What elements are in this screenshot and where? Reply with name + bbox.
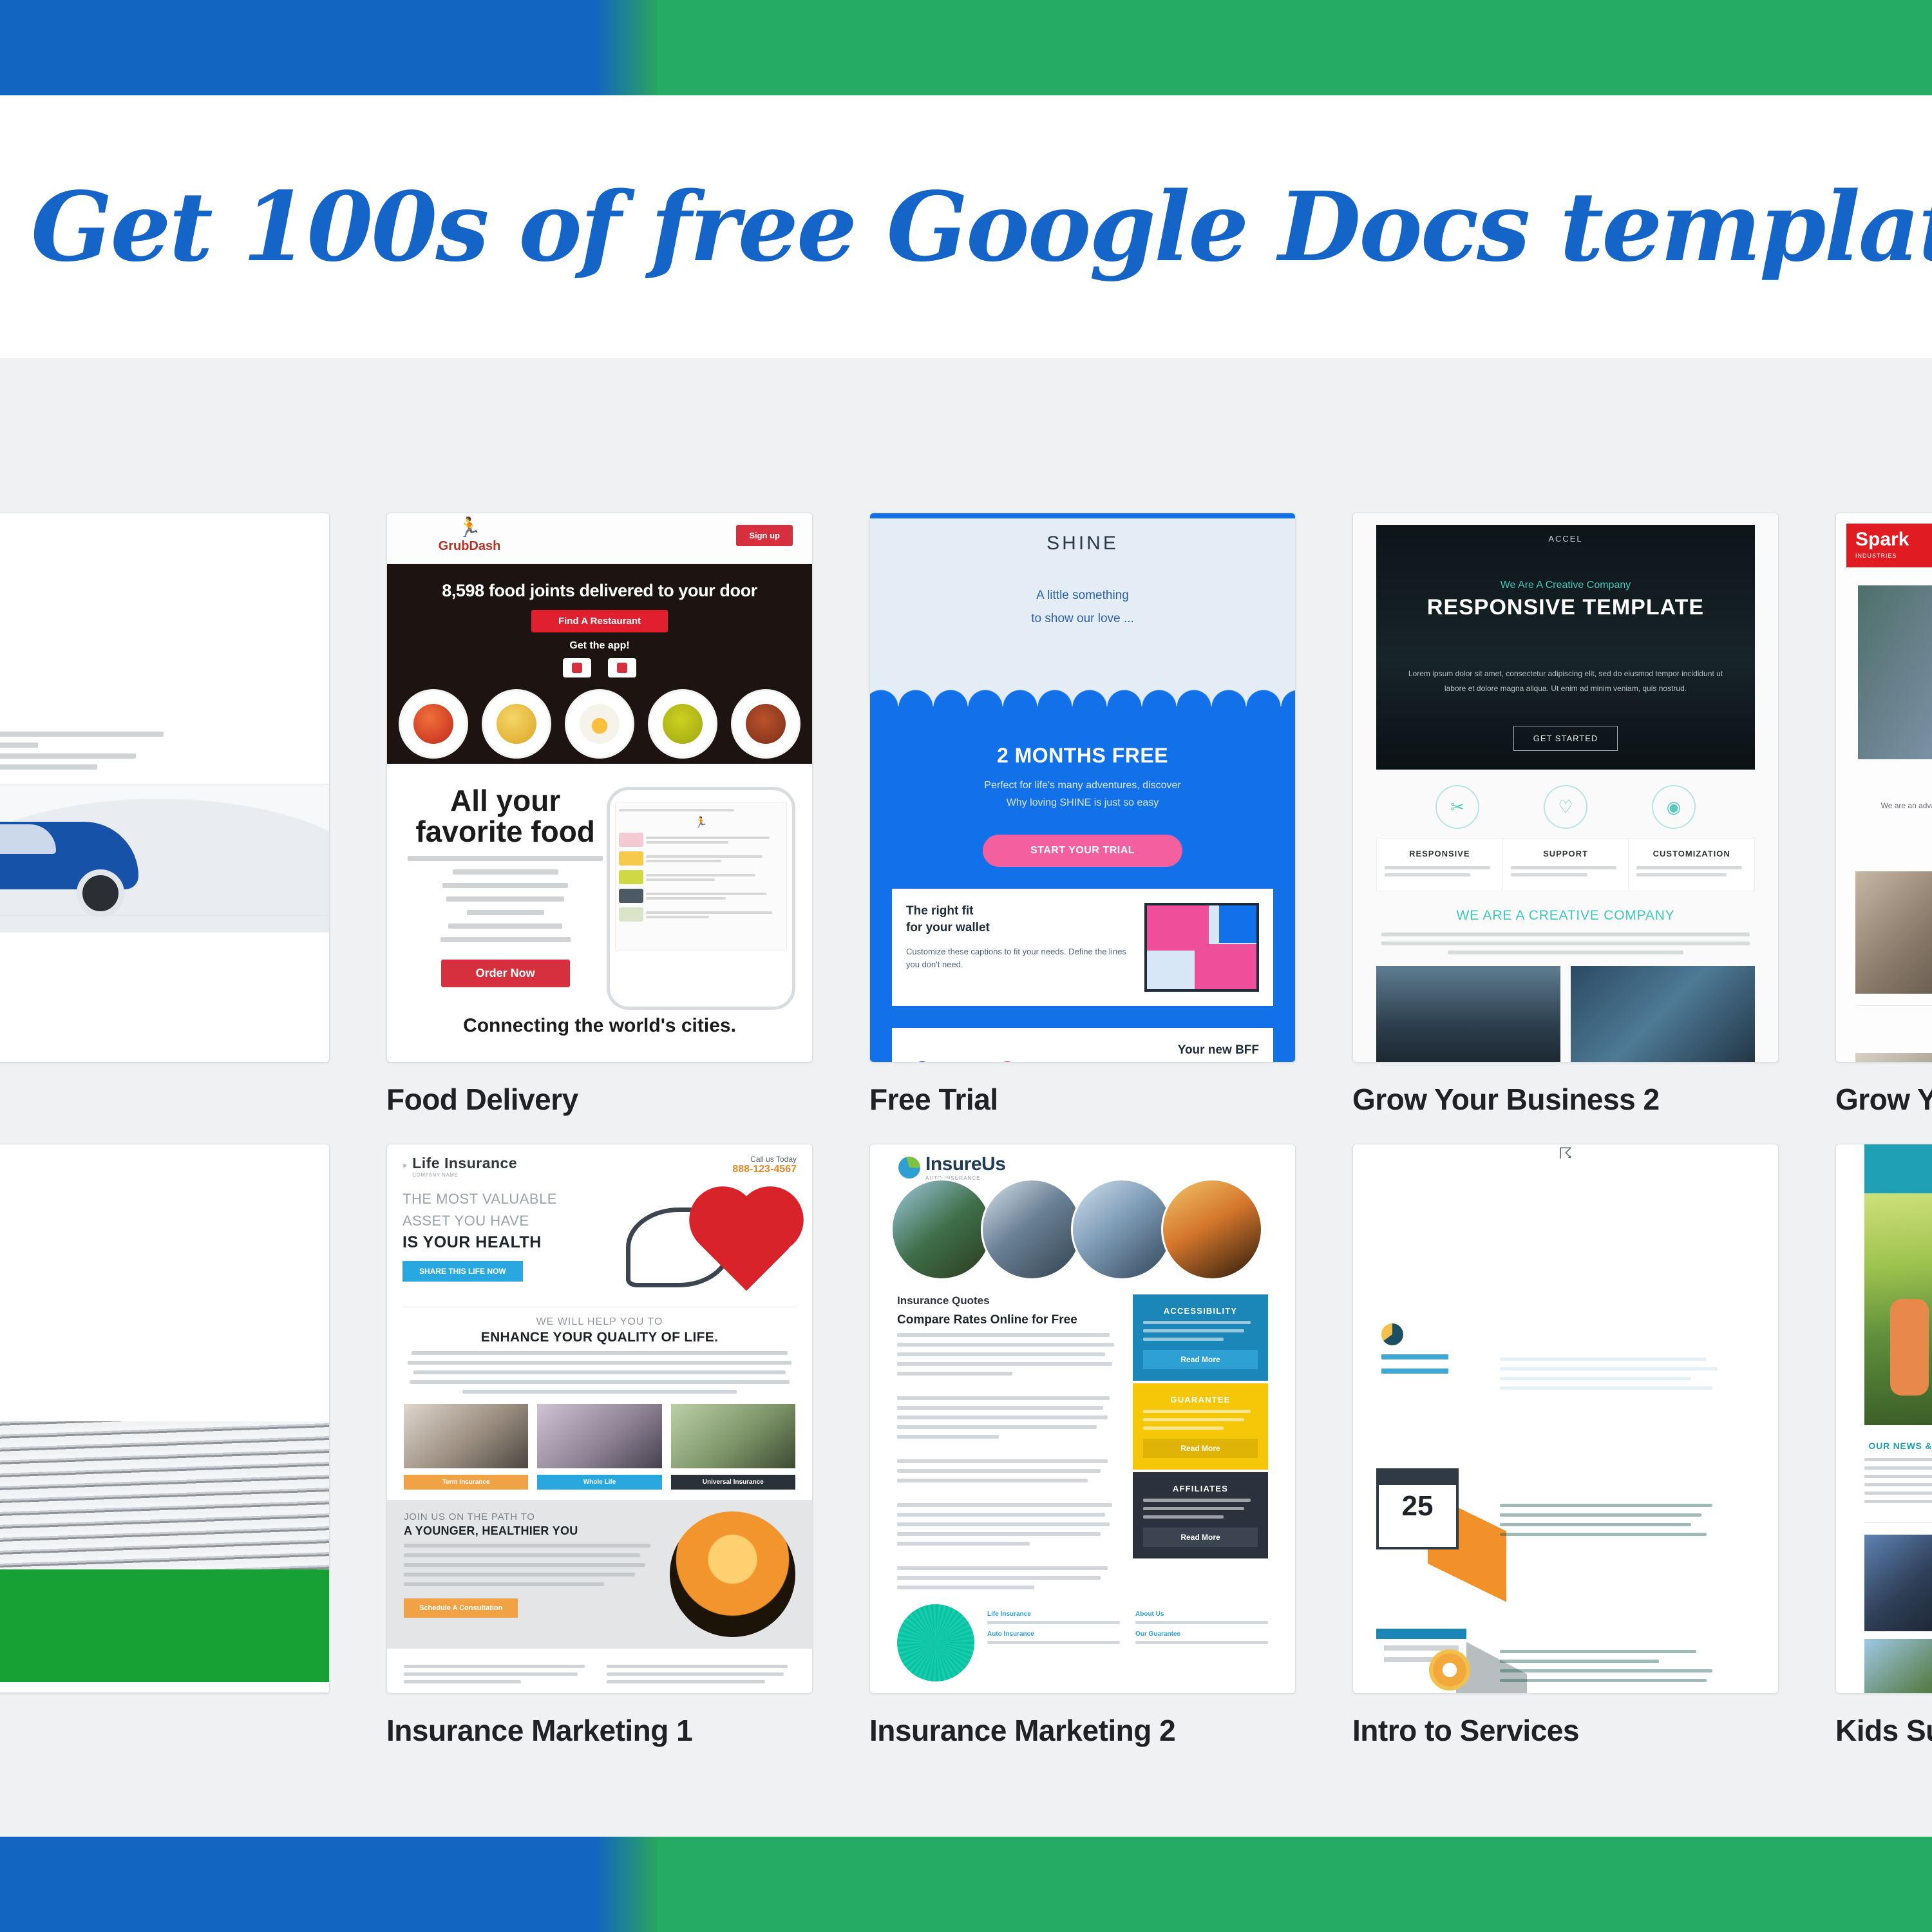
- card-insurance-marketing-1[interactable]: ❋ Life Insurance COMPANY NAME Call us To…: [386, 1144, 813, 1694]
- feature-icon-row: ✂ ♡ ◉: [1403, 785, 1728, 829]
- divider: [1864, 1522, 1932, 1523]
- tag-row: Term Insurance Whole Life Universal Insu…: [404, 1475, 795, 1490]
- footer-link[interactable]: Auto Insurance: [987, 1631, 1120, 1638]
- runner-icon: 🏃: [418, 518, 521, 538]
- find-restaurant-button[interactable]: Find A Restaurant: [531, 610, 668, 632]
- content-box: [0, 1692, 329, 1694]
- footer-column: [607, 1660, 795, 1688]
- circle-image-row: [882, 1179, 1283, 1280]
- hero-headline: 8,598 food joints delivered to your door: [387, 564, 812, 601]
- circle-image: [1161, 1179, 1263, 1280]
- card-title: GUARANTEE: [1143, 1395, 1258, 1405]
- card-title: Your new BFF: [1037, 1042, 1259, 1059]
- content-image: [537, 1404, 661, 1468]
- dish-icon: [648, 689, 717, 759]
- footer-link[interactable]: About Us: [1135, 1611, 1268, 1618]
- sunset-family-image: [670, 1511, 795, 1637]
- brand-logo: ☈ Initech: [1353, 1144, 1778, 1165]
- mid-section: WE WILL HELP YOU TO ENHANCE YOUR QUALITY…: [387, 1307, 812, 1394]
- eyebrow: We Are A Creative Company: [1376, 580, 1755, 591]
- hero-banner: ACCEL We Are A Creative Company RESPONSI…: [1376, 525, 1755, 770]
- feature-columns: RESPONSIVE SUPPORT CUSTOMIZATION: [1376, 838, 1755, 891]
- footer-text: Connecting the world's cities.: [387, 1015, 812, 1037]
- gallery-cell: Spark INDUSTRIES August 2017 Issue #12 W…: [1835, 513, 1932, 1117]
- wrench-icon: ✂: [1435, 785, 1479, 829]
- apple-store-badge[interactable]: [563, 658, 591, 677]
- brand-subtitle: COMPANY NAME: [412, 1172, 517, 1178]
- white-space: [0, 1144, 329, 1421]
- hero-row: THE MOST VALUABLE ASSET YOU HAVE IS YOUR…: [387, 1178, 812, 1298]
- card-caption: Insurance Marketing 1: [386, 1713, 811, 1748]
- gear-icon: [1433, 1653, 1466, 1687]
- article-images: [1376, 966, 1755, 1063]
- footer-link[interactable]: Our Guarantee: [1135, 1631, 1268, 1638]
- tag-term-insurance[interactable]: Term Insurance: [404, 1475, 528, 1490]
- gallery-cell: ☈ Initech Let's get started. SEE ALL OF …: [1352, 1144, 1777, 1748]
- card-kids-summer-camp[interactable]: SUMMER CAMP: [1835, 1144, 1932, 1694]
- card-partial-left-row2[interactable]: [0, 1144, 330, 1694]
- card-title: The right fit for your wallet: [906, 903, 1135, 936]
- card-caption: Intro to Services: [1352, 1713, 1777, 1748]
- grubdash-logo: 🏃 GrubDash: [418, 518, 521, 554]
- gallery-cell: InsureUs AUTO INSURANCE In: [869, 1144, 1294, 1748]
- green-block: [0, 1569, 329, 1682]
- food-delivery-preview: 🏃 GrubDash Sign up 8,598 food joints del…: [387, 513, 812, 1062]
- card-caption: Grow Your Business 2: [1352, 1082, 1777, 1117]
- gallery-cell: 🏃 GrubDash Sign up 8,598 food joints del…: [386, 513, 811, 1117]
- brand-bar-blue-segment: [0, 1837, 596, 1932]
- brand-bar-gradient-segment: [596, 1837, 657, 1932]
- share-button[interactable]: SHARE THIS LIFE NOW: [402, 1261, 523, 1282]
- card-grow-your-business-2[interactable]: ACCEL We Are A Creative Company RESPONSI…: [1352, 513, 1779, 1063]
- grubdash-hero: 8,598 food joints delivered to your door…: [387, 564, 812, 764]
- section-title: ENHANCE YOUR QUALITY OF LIFE.: [404, 1330, 795, 1345]
- phone-number[interactable]: 888-123-4567: [732, 1164, 797, 1175]
- section-title: A YOUNGER, HEALTHIER YOU: [404, 1524, 661, 1538]
- column-news-events: OUR NEWS & EVENTS: [1864, 1439, 1932, 1508]
- bottom-row: GREAT REASONS TO CHOOSE OUR CAMP: [1864, 1639, 1932, 1694]
- hero-copy: THE MOST VALUABLE ASSET YOU HAVE IS YOUR…: [402, 1188, 620, 1298]
- grey-section: JOIN US ON THE PATH TO A YOUNGER, HEALTH…: [387, 1500, 812, 1649]
- call-label: Call us Today: [732, 1155, 797, 1164]
- page-title: Get 100s of free Google Docs templates: [31, 179, 1932, 274]
- tag-universal-insurance[interactable]: Universal Insurance: [671, 1475, 795, 1490]
- header: Get 100s of free Google Docs templates: [0, 95, 1932, 358]
- circle-image: [891, 1179, 992, 1280]
- brand-bar-green-segment: [657, 1837, 1932, 1932]
- brand-logo: ❋ Life Insurance COMPANY NAME: [402, 1155, 517, 1178]
- hero-image: [1858, 585, 1932, 759]
- gallery-cell: ❋ Life Insurance COMPANY NAME Call us To…: [386, 1144, 811, 1748]
- hero-image: [1864, 1193, 1932, 1425]
- medical-star-icon: ❋: [402, 1164, 407, 1169]
- eyebrow: WE WILL HELP YOU TO: [404, 1316, 795, 1328]
- order-now-button[interactable]: Order Now: [441, 960, 570, 987]
- tag-whole-life[interactable]: Whole Life: [537, 1475, 661, 1490]
- headline: RESPONSIVE TEMPLATE: [1376, 595, 1755, 620]
- seal-badge-icon: [897, 1604, 974, 1681]
- body-text: We are an advanced, progressive-thinking…: [1875, 798, 1932, 829]
- feature-column: SUPPORT: [1503, 838, 1629, 891]
- article-image: [1376, 966, 1560, 1063]
- top-brand-bar: [0, 0, 1932, 95]
- brand-bar-gradient-segment: [596, 0, 657, 95]
- circle-image: [981, 1179, 1083, 1280]
- top-accent-bar: [870, 513, 1295, 518]
- start-trial-button[interactable]: START YOUR TRIAL: [983, 835, 1182, 867]
- calendar-date: 25: [1379, 1485, 1456, 1528]
- read-more-button[interactable]: Read More: [1143, 1528, 1258, 1547]
- side-cards: ACCESSIBILITY Read More GUARANTEE Read M…: [1133, 1294, 1268, 1595]
- header-row: ❋ Life Insurance COMPANY NAME Call us To…: [387, 1144, 812, 1178]
- content-image: [671, 1404, 795, 1468]
- section-title: WE ARE A CREATIVE COMPANY: [1365, 908, 1766, 923]
- card-grow-your-business[interactable]: Spark INDUSTRIES August 2017 Issue #12 W…: [1835, 513, 1932, 1063]
- feature-column: RESPONSIVE: [1377, 838, 1503, 891]
- grey-copy: JOIN US ON THE PATH TO A YOUNGER, HEALTH…: [404, 1511, 661, 1637]
- phone-screen: 🏃: [615, 802, 787, 951]
- image-row: [404, 1404, 795, 1468]
- content-image: [1855, 1053, 1932, 1063]
- schedule-consultation-button[interactable]: Schedule A Consultation: [404, 1598, 518, 1618]
- section-title: Compare Rates Online for Free: [897, 1313, 1119, 1327]
- bottom-brand-bar: [0, 1837, 1932, 1932]
- feature-card-wallet: The right fit for your wallet Customize …: [892, 889, 1273, 1006]
- get-app-label: Get the app!: [387, 640, 812, 652]
- template-gallery: 🏃 GrubDash Sign up 8,598 food joints del…: [0, 358, 1932, 1837]
- brand-name: GrubDash: [418, 539, 521, 554]
- card-caption: Free Trial: [869, 1082, 1294, 1117]
- insureus-preview: InsureUs AUTO INSURANCE In: [870, 1144, 1295, 1693]
- initech-preview: ☈ Initech Let's get started. SEE ALL OF …: [1353, 1144, 1778, 1693]
- card-caption: Grow Your Business: [1835, 1082, 1932, 1117]
- card-guarantee[interactable]: GUARANTEE Read More: [1133, 1383, 1268, 1470]
- document-chart-icon: [1366, 1313, 1488, 1426]
- cta-image: [1864, 1535, 1932, 1631]
- brand-name: ACCEL: [1376, 525, 1755, 544]
- dish-icon: [565, 689, 634, 759]
- signup-button[interactable]: Sign up: [736, 525, 793, 546]
- car-teaser-top: [0, 513, 329, 726]
- brand-subtitle: INDUSTRIES: [1855, 553, 1897, 559]
- hero-line-3: IS YOUR HEALTH: [402, 1233, 620, 1252]
- life-insurance-preview: ❋ Life Insurance COMPANY NAME Call us To…: [387, 1144, 812, 1693]
- footer-columns: [387, 1649, 812, 1688]
- feature-title: SUPPORT: [1511, 849, 1621, 858]
- camera-icon: ◉: [1652, 785, 1696, 829]
- calendar-icon: 25: [1366, 1459, 1488, 1572]
- card-caption: Insurance Marketing 2: [869, 1713, 1294, 1748]
- dish-icon: [399, 689, 468, 759]
- globe-icon: [898, 1157, 920, 1179]
- brand-logo: SHINE: [870, 533, 1295, 554]
- partial-preview: [0, 1144, 329, 1693]
- read-more-button[interactable]: Read More: [1143, 1439, 1258, 1458]
- subheading: A little something to show our love ...: [870, 584, 1295, 630]
- card-accessibility[interactable]: ACCESSIBILITY Read More: [1133, 1294, 1268, 1381]
- gallery-cell: SHINE A little something to show our lov…: [869, 513, 1294, 1117]
- card-title: ACCESSIBILITY: [1143, 1306, 1258, 1316]
- brand-logo: InsureUs AUTO INSURANCE: [870, 1144, 1295, 1181]
- car-wheel-rear: [77, 869, 124, 917]
- card-caption: Kids Summer Camp: [1835, 1713, 1932, 1748]
- card-insurance-marketing-2[interactable]: InsureUs AUTO INSURANCE In: [869, 1144, 1296, 1694]
- footer-links: Life Insurance Auto Insurance About Us O…: [987, 1604, 1268, 1644]
- brand-name: InsureUs: [925, 1153, 1005, 1175]
- people-illustration-icon: [906, 1042, 1028, 1063]
- cta-banner: GIVE YOUR CHILD A SUMMER OF ADVENTURE AN…: [1864, 1535, 1932, 1631]
- brand-bar-blue-segment: [0, 0, 596, 95]
- issue-meta: August 2017 Issue #12: [1836, 571, 1932, 579]
- dish-row: [387, 689, 812, 759]
- card-intro-to-services[interactable]: ☈ Initech Let's get started. SEE ALL OF …: [1352, 1144, 1779, 1694]
- section-body: [1381, 933, 1750, 954]
- gallery-cell: [0, 1144, 328, 1748]
- feature-title: CUSTOMIZATION: [1636, 849, 1747, 858]
- divider: [0, 915, 329, 916]
- car-image: [0, 784, 329, 933]
- card-caption: Food Delivery: [386, 1082, 811, 1117]
- call-block: Call us Today 888-123-4567: [732, 1155, 797, 1175]
- bottom-image: [1864, 1639, 1932, 1694]
- spark-preview: Spark INDUSTRIES August 2017 Issue #12 W…: [1836, 513, 1932, 1062]
- summer-camp-preview: SUMMER CAMP: [1836, 1144, 1932, 1693]
- offer-subtext: Perfect for life's many adventures, disc…: [870, 777, 1295, 811]
- read-more-button[interactable]: Read More: [1143, 1350, 1258, 1369]
- feature-title: RESPONSIVE: [1385, 849, 1495, 858]
- content-image: [404, 1404, 528, 1468]
- card-partial-left-row1[interactable]: [0, 513, 330, 1063]
- settings-card-icon: [1366, 1605, 1488, 1694]
- brand-name: Spark: [1855, 530, 1932, 549]
- heart-icon: ♡: [1544, 785, 1587, 829]
- card-body: Customize these captions to fit your nee…: [906, 945, 1135, 972]
- services-title: Services: [1836, 1022, 1932, 1044]
- blue-panel: 2 MONTHS FREE Perfect for life's many ad…: [870, 706, 1295, 1062]
- eyebrow: Insurance Quotes: [897, 1294, 1119, 1307]
- phone-mockup: 🏃: [607, 787, 795, 1010]
- footer-column: [404, 1660, 592, 1688]
- get-started-button[interactable]: GET STARTED: [1513, 726, 1618, 751]
- gallery-cell: SUMMER CAMP: [1835, 1144, 1932, 1748]
- grubdash-copy: All your favorite food Order Now: [404, 781, 607, 1010]
- gallery-cell: [0, 513, 328, 1117]
- google-play-badge[interactable]: [608, 658, 636, 677]
- dish-icon: [482, 689, 551, 759]
- texture-image: [0, 1421, 329, 1569]
- gallery-cell: ACCEL We Are A Creative Company RESPONSI…: [1352, 513, 1777, 1117]
- card-free-trial[interactable]: SHINE A little something to show our lov…: [869, 513, 1296, 1063]
- divider: [1855, 1005, 1932, 1006]
- body-row: Insurance Quotes Compare Rates Online fo…: [870, 1280, 1295, 1595]
- brand-bar-green-segment: [657, 0, 1932, 95]
- grubdash-header: 🏃 GrubDash Sign up: [387, 513, 812, 564]
- brand-logo: Spark INDUSTRIES: [1846, 524, 1932, 567]
- car-teaser-text: [0, 732, 329, 770]
- circle-image: [1071, 1179, 1173, 1280]
- scallop-edge: [869, 690, 1296, 724]
- page-root: Get 100s of free Google Docs templates: [0, 0, 1932, 1932]
- template-grid: 🏃 GrubDash Sign up 8,598 food joints del…: [0, 513, 1932, 1748]
- card-title: AFFILIATES: [1143, 1484, 1258, 1493]
- dish-icon: [731, 689, 800, 759]
- column-title: OUR NEWS & EVENTS: [1864, 1439, 1932, 1453]
- accel-preview: ACCEL We Are A Creative Company RESPONSI…: [1353, 513, 1778, 1062]
- footer-row: Life Insurance Auto Insurance About Us O…: [870, 1595, 1295, 1681]
- app-store-badges: [387, 658, 812, 677]
- eyebrow: JOIN US ON THE PATH TO: [404, 1511, 661, 1522]
- heart-stethoscope-image: [620, 1188, 797, 1298]
- feature-card-bff: Your new BFF Our friendly team, are alwa…: [892, 1028, 1273, 1063]
- column-row: OUR NEWS & EVENTS OUR PHOTO GALLERY: [1864, 1439, 1932, 1508]
- card-affiliates[interactable]: AFFILIATES Read More: [1133, 1472, 1268, 1558]
- brand-name: Life Insurance: [412, 1155, 517, 1171]
- brand-band: SUMMER CAMP: [1864, 1144, 1932, 1193]
- headline: All your favorite food: [404, 786, 607, 848]
- content-image: [1855, 871, 1932, 994]
- puzzle-icon: [1144, 903, 1259, 992]
- image-pair-1: [1855, 871, 1932, 994]
- headline: We are Spark Industries: [1836, 770, 1932, 790]
- free-trial-preview: SHINE A little something to show our lov…: [870, 513, 1295, 1062]
- article-image: [1571, 966, 1755, 1063]
- card-food-delivery[interactable]: 🏃 GrubDash Sign up 8,598 food joints del…: [386, 513, 813, 1063]
- body-copy: Insurance Quotes Compare Rates Online fo…: [897, 1294, 1119, 1595]
- hero-line-1: THE MOST VALUABLE: [402, 1188, 620, 1210]
- grubdash-body: All your favorite food Order Now: [387, 764, 812, 1010]
- car-teaser-preview: [0, 513, 329, 1062]
- services-eyebrow: Spark Industries: [1836, 1015, 1932, 1022]
- hero-line-2: ASSET YOU HAVE: [402, 1210, 620, 1232]
- footer-link[interactable]: Life Insurance: [987, 1611, 1120, 1618]
- image-pair-2: [1855, 1053, 1932, 1063]
- hero-body: Lorem ipsum dolor sit amet, consectetur …: [1403, 667, 1728, 696]
- feature-column: CUSTOMIZATION: [1629, 838, 1754, 891]
